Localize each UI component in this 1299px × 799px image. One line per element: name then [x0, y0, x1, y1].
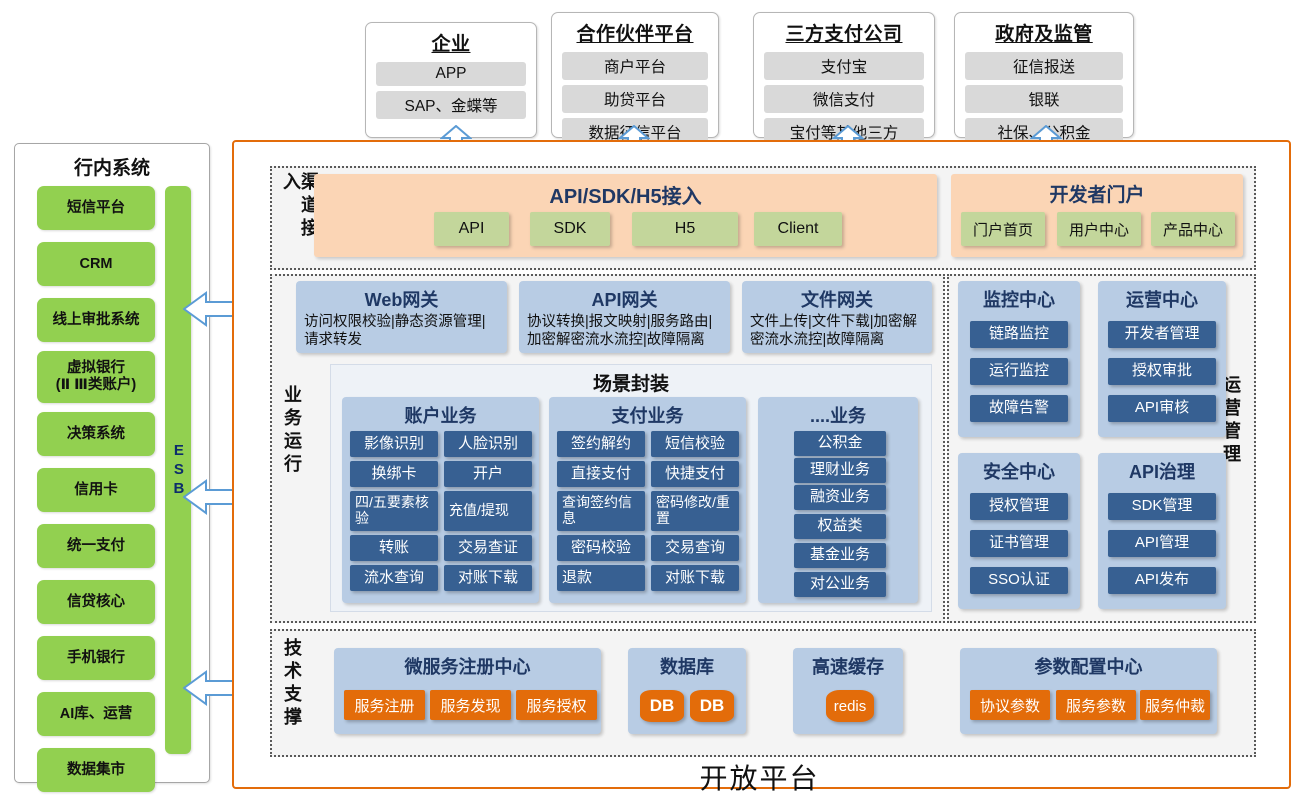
api-gateway-desc: 协议转换|报文映射|服务路由|加密解密流水流控|故障隔离 [527, 313, 722, 349]
chip-label: 融资业务 [810, 489, 870, 506]
chip-label: API发布 [1135, 572, 1189, 589]
tech-chip[interactable]: 服务发现 [430, 690, 511, 720]
center-card-operations: 运营中心 开发者管理 授权审批 API审核 [1098, 281, 1226, 437]
chip-label: 链路监控 [989, 326, 1049, 343]
chip-label: 转账 [379, 540, 409, 557]
bank-system-label: 线上审批系统 [53, 312, 140, 329]
tech-chip[interactable]: 服务注册 [344, 690, 425, 720]
bank-system-item[interactable]: 决策系统 [37, 412, 155, 456]
business-chip[interactable]: 查询签约信息 [557, 491, 645, 531]
chip-label: 公积金 [817, 435, 862, 452]
channel-chip-api[interactable]: API [434, 212, 509, 246]
business-chip[interactable]: 交易查证 [444, 535, 532, 561]
center-card-api-governance: API治理 SDK管理 API管理 API发布 [1098, 453, 1226, 609]
center-chip[interactable]: SSO认证 [970, 567, 1068, 594]
chip-label: DB [700, 696, 725, 716]
business-group-other: ....业务 公积金 理财业务 融资业务 权益类 基金业务 对公业务 [758, 397, 918, 603]
tech-block-title: 参数配置中心 [960, 653, 1217, 679]
center-chip[interactable]: API审核 [1108, 395, 1216, 422]
party-item: 微信支付 [764, 85, 924, 113]
chip-label: 退款 [562, 570, 592, 587]
tech-block-parameter-config: 参数配置中心 协议参数 服务参数 服务仲裁 [960, 648, 1217, 734]
chip-label: 四/五要素核验 [355, 495, 436, 526]
bank-system-label: 信用卡 [74, 482, 118, 499]
chip-label: 服务注册 [354, 695, 414, 716]
tech-chip[interactable]: 协议参数 [970, 690, 1050, 720]
chip-label: 授权管理 [989, 498, 1049, 515]
business-group-payment: 支付业务 签约解约 直接支付 查询签约信息 密码校验 退款 短信校验 快捷支付 … [549, 397, 746, 603]
center-chip[interactable]: 运行监控 [970, 358, 1068, 385]
bank-system-label: 手机银行 [67, 650, 125, 667]
portal-chip-product[interactable]: 产品中心 [1151, 212, 1235, 246]
center-chip[interactable]: 证书管理 [970, 530, 1068, 557]
bank-system-item[interactable]: 信用卡 [37, 468, 155, 512]
chip-label: API [459, 220, 485, 238]
web-gateway-card: Web网关 访问权限校验|静态资源管理|请求转发 [296, 281, 507, 353]
file-gateway-desc: 文件上传|文件下载|加密解密流水流控|故障隔离 [750, 313, 924, 349]
tech-block-title: 数据库 [628, 653, 746, 679]
api-gateway-title: API网关 [519, 286, 730, 312]
business-chip[interactable]: 换绑卡 [350, 461, 438, 487]
chip-label: 交易查证 [458, 540, 518, 557]
channel-access-label: 渠道接入 [282, 172, 318, 262]
api-sdk-h5-access-card: API/SDK/H5接入 API SDK H5 Client [314, 174, 937, 257]
api-gateway-card: API网关 协议转换|报文映射|服务路由|加密解密流水流控|故障隔离 [519, 281, 730, 353]
center-chip[interactable]: API发布 [1108, 567, 1216, 594]
center-card-monitoring: 监控中心 链路监控 运行监控 故障告警 [958, 281, 1080, 437]
business-chip[interactable]: 四/五要素核验 [350, 491, 438, 531]
chip-label: redis [834, 698, 867, 715]
chip-label: 直接支付 [571, 466, 631, 483]
business-chip[interactable]: 基金业务 [794, 543, 886, 568]
chip-label: 密码校验 [571, 540, 631, 557]
bank-system-item[interactable]: 虚拟银行 (Ⅱ Ⅲ类账户) [37, 351, 155, 403]
external-party-card-partner-platform: 合作伙伴平台 商户平台 助贷平台 数据征信平台 [551, 12, 719, 138]
business-chip[interactable]: 公积金 [794, 431, 886, 456]
channel-chip-client[interactable]: Client [754, 212, 842, 246]
developer-portal-title: 开发者门户 [951, 180, 1243, 207]
chip-label: 开户 [473, 466, 503, 483]
chip-label: 门户首页 [973, 219, 1033, 240]
redis-cylinder-icon: redis [826, 690, 874, 722]
party-item: 支付宝 [764, 52, 924, 80]
chip-label: 换绑卡 [371, 466, 416, 483]
center-title: 安全中心 [958, 458, 1080, 484]
party-item: 商户平台 [562, 52, 708, 80]
center-title: API治理 [1098, 458, 1226, 484]
database-cylinder-icon: DB [640, 690, 684, 722]
business-group-title: 支付业务 [549, 402, 746, 428]
business-chip[interactable]: 直接支付 [557, 461, 645, 487]
bank-system-item[interactable]: 线上审批系统 [37, 298, 155, 342]
business-chip[interactable]: 短信校验 [651, 431, 739, 457]
business-chip[interactable]: 充值/提现 [444, 491, 532, 531]
chip-label: API管理 [1135, 535, 1189, 552]
chip-label: API审核 [1135, 400, 1189, 417]
developer-portal-card: 开发者门户 门户首页 用户中心 产品中心 [951, 174, 1243, 257]
chip-label: 短信校验 [665, 436, 725, 453]
bank-system-item[interactable]: AI库、运营 [37, 692, 155, 736]
party-item: SAP、金蝶等 [376, 91, 526, 119]
bank-system-item[interactable]: 短信平台 [37, 186, 155, 230]
business-chip[interactable]: 开户 [444, 461, 532, 487]
chip-label: Client [778, 220, 819, 238]
bank-system-label: 数据集市 [67, 762, 125, 779]
bank-system-label: 虚拟银行 (Ⅱ Ⅲ类账户) [56, 360, 136, 393]
api-sdk-h5-access-title: API/SDK/H5接入 [314, 180, 937, 209]
chip-label: 协议参数 [980, 695, 1040, 716]
bank-system-item[interactable]: 统一支付 [37, 524, 155, 568]
business-chip[interactable]: 退款 [557, 565, 645, 591]
tech-block-cache: 高速缓存 redis [793, 648, 903, 734]
web-gateway-title: Web网关 [296, 286, 507, 312]
in-bank-systems-title: 行内系统 [15, 153, 209, 180]
chip-label: 服务仲裁 [1145, 695, 1205, 716]
bank-system-label: 信贷核心 [67, 594, 125, 611]
chip-label: 运行监控 [989, 363, 1049, 380]
party-title: 企业 [431, 29, 470, 56]
party-title: 三方支付公司 [785, 19, 902, 46]
in-bank-systems-panel: 行内系统 短信平台 CRM 线上审批系统 虚拟银行 (Ⅱ Ⅲ类账户) 决策系统 … [14, 143, 210, 783]
page-title: 开放平台 [232, 757, 1287, 797]
center-chip[interactable]: 开发者管理 [1108, 321, 1216, 348]
chip-label: SSO认证 [988, 572, 1050, 589]
file-gateway-card: 文件网关 文件上传|文件下载|加密解密流水流控|故障隔离 [742, 281, 932, 353]
chip-label: 授权审批 [1132, 363, 1192, 380]
bank-system-label: 短信平台 [67, 200, 125, 217]
party-item: 征信报送 [965, 52, 1123, 80]
business-group-title: 账户业务 [342, 402, 539, 428]
center-chip[interactable]: 授权管理 [970, 493, 1068, 520]
center-chip[interactable]: 故障告警 [970, 395, 1068, 422]
chip-label: SDK管理 [1132, 498, 1193, 515]
party-title: 合作伙伴平台 [576, 19, 693, 46]
business-chip[interactable]: 融资业务 [794, 485, 886, 510]
tech-block-title: 高速缓存 [793, 653, 903, 679]
center-chip[interactable]: 链路监控 [970, 321, 1068, 348]
business-chip[interactable]: 对账下载 [651, 565, 739, 591]
chip-label: 开发者管理 [1124, 326, 1199, 343]
channel-chip-sdk[interactable]: SDK [530, 212, 610, 246]
bank-system-label: 决策系统 [67, 426, 125, 443]
chip-label: 人脸识别 [458, 436, 518, 453]
chip-label: 查询签约信息 [562, 495, 643, 526]
business-group-title: ....业务 [758, 402, 918, 428]
business-chip[interactable]: 影像识别 [350, 431, 438, 457]
chip-label: 产品中心 [1163, 219, 1223, 240]
chip-label: 服务授权 [526, 695, 586, 716]
business-chip[interactable]: 流水查询 [350, 565, 438, 591]
external-party-card-government-regulator: 政府及监管 征信报送 银联 社保、公积金 [954, 12, 1134, 138]
party-item: 银联 [965, 85, 1123, 113]
bank-system-label: 统一支付 [67, 538, 125, 555]
channel-chip-h5[interactable]: H5 [632, 212, 738, 246]
scene-encapsulation-title: 场景封装 [331, 369, 931, 396]
chip-label: SDK [554, 220, 587, 238]
party-item: 助贷平台 [562, 85, 708, 113]
chip-label: 服务参数 [1066, 695, 1126, 716]
chip-label: 对账下载 [665, 570, 725, 587]
tech-chip[interactable]: 服务仲裁 [1140, 690, 1210, 720]
esb-bus: ESB [165, 186, 191, 754]
business-chip[interactable]: 对账下载 [444, 565, 532, 591]
center-chip[interactable]: SDK管理 [1108, 493, 1216, 520]
business-chip[interactable]: 理财业务 [794, 458, 886, 483]
party-item: APP [376, 62, 526, 86]
chip-label: 基金业务 [810, 547, 870, 564]
chip-label: 签约解约 [571, 436, 631, 453]
business-chip[interactable]: 人脸识别 [444, 431, 532, 457]
portal-chip-home[interactable]: 门户首页 [961, 212, 1045, 246]
business-chip[interactable]: 交易查询 [651, 535, 739, 561]
tech-support-label: 技术支撑 [283, 638, 301, 746]
chip-label: 对账下载 [458, 570, 518, 587]
center-chip[interactable]: API管理 [1108, 530, 1216, 557]
party-title: 政府及监管 [995, 19, 1093, 46]
tech-chip[interactable]: 服务授权 [516, 690, 597, 720]
chip-label: 用户中心 [1069, 219, 1129, 240]
bank-system-label: CRM [79, 256, 112, 273]
bank-system-item[interactable]: 手机银行 [37, 636, 155, 680]
tech-block-title: 微服务注册中心 [334, 653, 601, 679]
chip-label: 交易查询 [665, 540, 725, 557]
bank-system-item[interactable]: 信贷核心 [37, 580, 155, 624]
business-group-account: 账户业务 影像识别 换绑卡 四/五要素核验 转账 流水查询 人脸识别 开户 充值… [342, 397, 539, 603]
tech-block-microservice-registry: 微服务注册中心 服务注册 服务发现 服务授权 [334, 648, 601, 734]
chip-label: 影像识别 [364, 436, 424, 453]
chip-label: 证书管理 [989, 535, 1049, 552]
chip-label: 快捷支付 [665, 466, 725, 483]
business-running-label: 业务运行 [283, 385, 301, 535]
chip-label: 充值/提现 [449, 503, 509, 519]
chip-label: H5 [675, 220, 695, 238]
chip-label: 理财业务 [810, 462, 870, 479]
chip-label: DB [650, 696, 675, 716]
portal-chip-user[interactable]: 用户中心 [1057, 212, 1141, 246]
chip-label: 服务发现 [440, 695, 500, 716]
external-party-card-third-party-payment: 三方支付公司 支付宝 微信支付 宝付等其他三方 [753, 12, 935, 138]
chip-label: 故障告警 [989, 400, 1049, 417]
chip-label: 对公业务 [810, 576, 870, 593]
bank-system-item[interactable]: CRM [37, 242, 155, 286]
external-party-card-enterprise: 企业 APP SAP、金蝶等 [365, 22, 537, 138]
center-card-security: 安全中心 授权管理 证书管理 SSO认证 [958, 453, 1080, 609]
center-chip[interactable]: 授权审批 [1108, 358, 1216, 385]
business-chip[interactable]: 对公业务 [794, 572, 886, 597]
file-gateway-title: 文件网关 [742, 286, 932, 312]
business-chip[interactable]: 密码修改/重置 [651, 491, 739, 531]
database-cylinder-icon: DB [690, 690, 734, 722]
business-chip[interactable]: 转账 [350, 535, 438, 561]
business-chip[interactable]: 签约解约 [557, 431, 645, 457]
business-chip[interactable]: 快捷支付 [651, 461, 739, 487]
bank-system-item[interactable]: 数据集市 [37, 748, 155, 792]
tech-chip[interactable]: 服务参数 [1056, 690, 1136, 720]
center-title: 监控中心 [958, 286, 1080, 312]
business-chip[interactable]: 权益类 [794, 514, 886, 539]
business-chip[interactable]: 密码校验 [557, 535, 645, 561]
bank-system-label: AI库、运营 [60, 706, 133, 723]
chip-label: 权益类 [817, 518, 862, 535]
web-gateway-desc: 访问权限校验|静态资源管理|请求转发 [304, 313, 499, 349]
tech-block-database: 数据库 DB DB [628, 648, 746, 734]
chip-label: 密码修改/重置 [656, 495, 737, 526]
center-title: 运营中心 [1098, 286, 1226, 312]
chip-label: 流水查询 [364, 570, 424, 587]
